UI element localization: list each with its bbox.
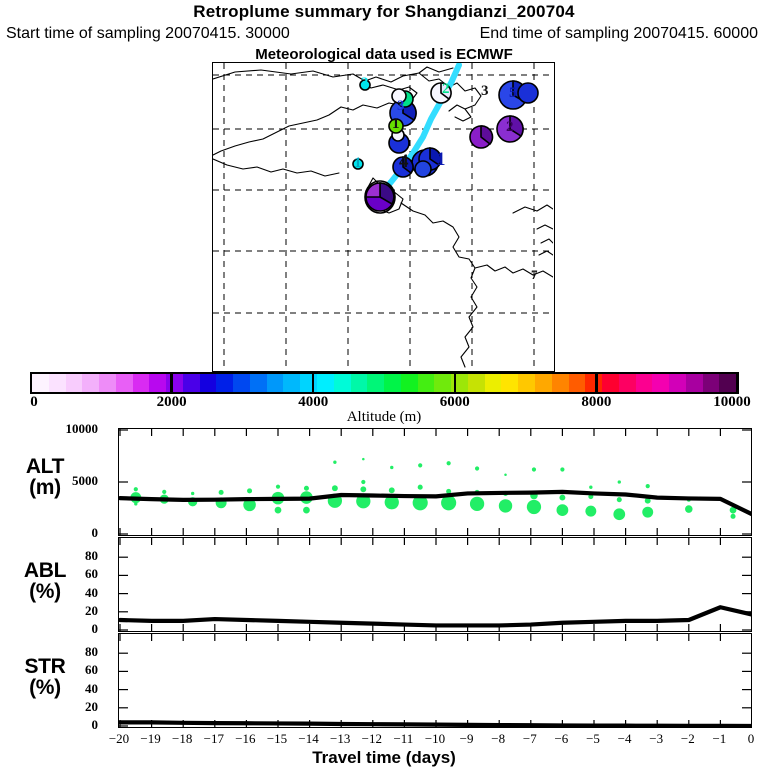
colorbar-swatch (116, 374, 133, 392)
colorbar-swatch (719, 374, 736, 392)
map-cluster-label: 3 (361, 75, 369, 92)
colorbar-swatch (267, 374, 284, 392)
xaxis-tick-label: −9 (460, 731, 474, 747)
alt-scatter-point (613, 508, 625, 520)
alt-scatter-point (532, 467, 536, 471)
alt-scatter-point (362, 458, 365, 461)
colorbar-swatch (652, 374, 669, 392)
mean-line (120, 492, 751, 514)
alt-scatter-point (504, 473, 507, 476)
colorbar-swatch (703, 374, 720, 392)
alt-scatter-point (418, 463, 422, 467)
map-cluster-label: 1 (392, 116, 400, 133)
colorbar-swatch (686, 374, 703, 392)
colorbar-swatch (468, 374, 485, 392)
alt-scatter-point (360, 486, 366, 492)
alt-scatter-point (361, 480, 365, 484)
alt-scatter-point (276, 485, 280, 489)
str-ytick-label: 40 (0, 681, 112, 697)
alt-scatter-point (685, 505, 693, 513)
alt-scatter-point (162, 490, 166, 494)
colorbar-gradient (30, 372, 738, 394)
colorbar-tick-label: 8000 (581, 394, 611, 411)
colorbar-swatch (636, 374, 653, 392)
colorbar-tick-label: 2000 (157, 394, 187, 411)
start-time-label: Start time of sampling 20070415. 30000 (6, 25, 290, 43)
xaxis-tick-label: −16 (235, 731, 255, 747)
xaxis-tick-label: −15 (267, 731, 287, 747)
alt-scatter-point (585, 506, 596, 517)
colorbar-swatch (283, 374, 300, 392)
alt-scatter-point (390, 466, 393, 469)
colorbar-swatch (99, 374, 116, 392)
xaxis-tick-label: −17 (204, 731, 224, 747)
alt-scatter-point (134, 502, 137, 505)
colorbar-swatch (49, 374, 66, 392)
colorbar-swatch (384, 374, 401, 392)
colorbar-swatch (535, 374, 552, 392)
alt-ytick-label: 10000 (0, 421, 112, 437)
altitude-colorbar (30, 372, 738, 394)
colorbar-swatch (518, 374, 535, 392)
colorbar-swatch (166, 374, 183, 392)
abl-ytick-label: 0 (0, 621, 112, 637)
colorbar-separator (737, 372, 740, 394)
meteo-data-label: Meteorological data used is ECMWF (0, 46, 768, 63)
str-ytick-label: 60 (0, 662, 112, 678)
xaxis-tick-label: −14 (298, 731, 318, 747)
alt-scatter-point (134, 487, 138, 491)
alt-scatter-point (646, 484, 650, 488)
colorbar-swatch (569, 374, 586, 392)
str-ytick-label: 0 (0, 717, 112, 733)
xaxis-tick-label: −19 (140, 731, 160, 747)
map-cluster-label: 2 (506, 119, 514, 136)
page-title: Retroplume summary for Shangdianzi_20070… (0, 2, 768, 22)
map-cluster-label: 7 (531, 267, 538, 283)
colorbar-swatch (334, 374, 351, 392)
xaxis-tick-label: −2 (681, 731, 695, 747)
alt-scatter-point (470, 497, 484, 511)
alt-scatter-point (303, 507, 310, 514)
colorbar-swatch (82, 374, 99, 392)
str-ytick-label: 80 (0, 644, 112, 660)
xaxis-tick-label: −1 (712, 731, 726, 747)
colorbar-swatch (233, 374, 250, 392)
alt-ytick-label: 5000 (0, 473, 112, 489)
xaxis-tick-label: −18 (172, 731, 192, 747)
xaxis-tick-label: −11 (393, 731, 413, 747)
colorbar-swatch (66, 374, 83, 392)
abl-ytick-label: 80 (0, 548, 112, 564)
colorbar-swatch (250, 374, 267, 392)
xaxis-tick-label: −5 (586, 731, 600, 747)
alt-scatter-point (304, 486, 309, 491)
abl-ytick-label: 20 (0, 603, 112, 619)
colorbar-swatch (501, 374, 518, 392)
xaxis-tick-label: −4 (618, 731, 632, 747)
xaxis-tick-label: 0 (748, 731, 755, 747)
colorbar-swatch (367, 374, 384, 392)
colorbar-separator (454, 372, 457, 394)
colorbar-swatch (552, 374, 569, 392)
alt-scatter-point (557, 504, 569, 516)
alt-scatter-point (219, 490, 224, 495)
alt-scatter-point (332, 485, 338, 491)
alt-scatter-point (618, 480, 621, 483)
colorbar-swatch (434, 374, 451, 392)
colorbar-swatch (669, 374, 686, 392)
alt-panel[interactable] (118, 428, 752, 536)
map-cluster-label: 1 (354, 155, 362, 172)
alt-scatter-point (191, 492, 194, 495)
colorbar-separator (312, 372, 315, 394)
colorbar-tick-label: 10000 (713, 394, 751, 411)
alt-scatter-point (642, 507, 653, 518)
map-cluster-label: 1 (436, 149, 446, 171)
abl-panel[interactable] (118, 537, 752, 632)
xaxis-tick-label: −12 (362, 731, 382, 747)
colorbar-swatch (133, 374, 150, 392)
alt-scatter-point (418, 485, 423, 490)
alt-scatter-point (447, 461, 451, 465)
alt-scatter-point (559, 495, 565, 501)
colorbar-swatch (200, 374, 217, 392)
xaxis-tick-label: −20 (109, 731, 129, 747)
xaxis-label: Travel time (days) (0, 748, 768, 768)
colorbar-tick-label: 0 (30, 394, 38, 411)
colorbar-swatch (619, 374, 636, 392)
xaxis-tick-label: −7 (523, 731, 537, 747)
alt-scatter-point (475, 466, 479, 470)
colorbar-swatch (149, 374, 166, 392)
end-time-label: End time of sampling 20070415. 60000 (480, 25, 758, 43)
alt-scatter-point (527, 500, 541, 514)
colorbar-swatch (351, 374, 368, 392)
colorbar-swatch (216, 374, 233, 392)
xaxis-tick-label: −6 (554, 731, 568, 747)
colorbar-swatch (183, 374, 200, 392)
alt-ytick-label: 0 (0, 525, 112, 541)
alt-scatter-point (499, 499, 512, 512)
colorbar-separator (170, 372, 173, 394)
colorbar-tick-label: 4000 (298, 394, 328, 411)
colorbar-swatch (317, 374, 334, 392)
colorbar-swatch (401, 374, 418, 392)
colorbar-swatch (418, 374, 435, 392)
colorbar-swatch (485, 374, 502, 392)
abl-ytick-label: 60 (0, 566, 112, 582)
alt-scatter-point (275, 507, 282, 514)
alt-scatter-point (389, 487, 395, 493)
alt-scatter-point (589, 486, 592, 489)
map-cluster-label: 3 (397, 98, 405, 115)
str-panel[interactable] (118, 633, 752, 728)
abl-ytick-label: 40 (0, 585, 112, 601)
map-cluster-label: 3 (481, 83, 489, 100)
colorbar-swatch (300, 374, 317, 392)
xaxis-tick-label: −10 (425, 731, 445, 747)
retroplume-map[interactable]: 3 2 3 1 5 3 2 1 4 1 7 (212, 62, 555, 372)
str-ytick-label: 20 (0, 699, 112, 715)
colorbar-swatch (585, 374, 602, 392)
mean-line (120, 607, 751, 625)
xaxis-tick-label: −13 (330, 731, 350, 747)
map-cluster-label: 5 (509, 85, 517, 102)
colorbar-swatch (32, 374, 49, 392)
xaxis-tick-label: −8 (491, 731, 505, 747)
colorbar-axis-label: Altitude (m) (0, 409, 768, 426)
colorbar-separator (595, 372, 598, 394)
map-cluster-label: 4 (399, 151, 409, 173)
alt-scatter-point (731, 514, 736, 519)
alt-scatter-point (247, 488, 252, 493)
xaxis-tick-label: −3 (649, 731, 663, 747)
alt-scatter-point (560, 467, 564, 471)
colorbar-tick-label: 6000 (440, 394, 470, 411)
alt-scatter-point (617, 497, 622, 502)
alt-scatter-point (333, 461, 336, 464)
map-cluster-label: 2 (442, 81, 450, 98)
colorbar-swatch (602, 374, 619, 392)
